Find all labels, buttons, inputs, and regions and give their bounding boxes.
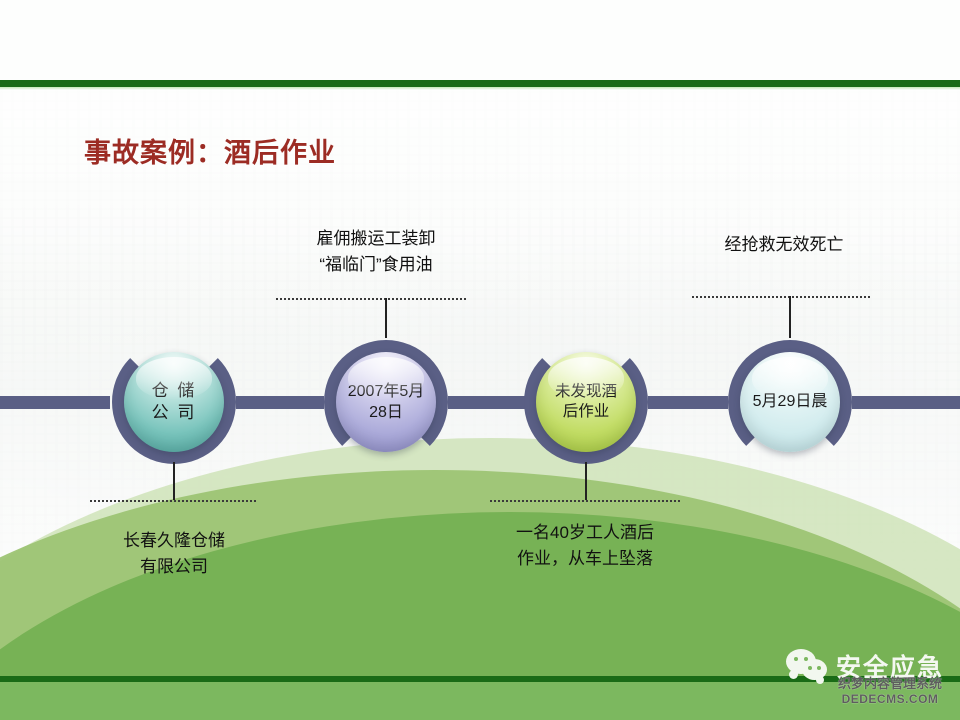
wechat-bubble-small <box>802 659 827 680</box>
callout-top-4-stem <box>789 296 791 338</box>
timeline-node-2-label: 2007年5月 28日 <box>343 381 430 423</box>
callout-bottom-1-rule <box>90 500 256 502</box>
callout-bottom-3-stem <box>585 462 587 500</box>
top-rule-glow <box>0 87 960 90</box>
callout-top-2-rule <box>276 298 466 300</box>
callout-bottom-1-stem <box>173 462 175 500</box>
callout-bottom-3-text: 一名40岁工人酒后 作业，从车上坠落 <box>478 520 692 571</box>
connector-segment-4 <box>852 396 960 409</box>
callout-bottom-3-rule <box>490 500 680 502</box>
watermark: 织梦内容管理系统 DEDECMS.COM <box>838 676 942 707</box>
connector-segment-1 <box>236 396 324 409</box>
callout-top-2-text: 雇佣搬运工装卸 “福临门”食用油 <box>276 226 476 277</box>
callout-bottom-1-text: 长春久隆仓储 有限公司 <box>78 528 270 579</box>
connector-segment-0 <box>0 396 110 409</box>
watermark-line-1: 织梦内容管理系统 <box>838 676 942 692</box>
slide-canvas: 事故案例：酒后作业 仓 储 公 司 2007年5月 28日 未发现酒 后作业 5… <box>0 0 960 720</box>
wechat-eye-1 <box>794 657 798 661</box>
callout-top-2-stem <box>385 298 387 338</box>
timeline-node-4-label: 5月29日晨 <box>748 391 833 412</box>
wechat-icon <box>786 649 828 683</box>
timeline-node-4[interactable]: 5月29日晨 <box>740 352 840 452</box>
top-green-rule <box>0 80 960 87</box>
connector-segment-2 <box>448 396 532 409</box>
callout-top-4-rule <box>692 296 870 298</box>
callout-top-4-text: 经抢救无效死亡 <box>688 232 880 258</box>
page-title: 事故案例：酒后作业 <box>84 131 336 170</box>
bottom-green-fill <box>0 682 960 720</box>
wechat-eye-4 <box>817 666 821 670</box>
wechat-eye-3 <box>808 666 812 670</box>
timeline-node-1[interactable]: 仓 储 公 司 <box>124 352 224 452</box>
timeline-node-1-label: 仓 储 公 司 <box>147 380 202 425</box>
watermark-line-2: DEDECMS.COM <box>838 692 942 707</box>
connector-segment-3 <box>648 396 728 409</box>
timeline-node-3[interactable]: 未发现酒 后作业 <box>536 352 636 452</box>
timeline-node-2[interactable]: 2007年5月 28日 <box>336 352 436 452</box>
timeline-node-3-label: 未发现酒 后作业 <box>550 382 622 423</box>
